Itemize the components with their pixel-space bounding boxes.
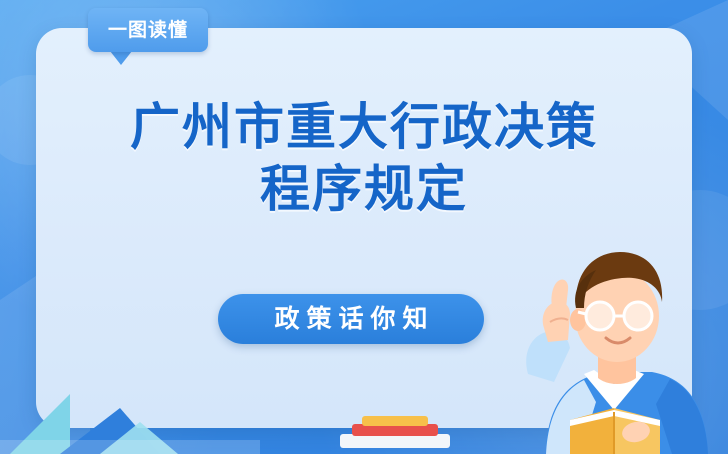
ribbon-label: 一图读懂	[108, 21, 188, 40]
person-illustration	[484, 224, 714, 454]
ribbon-tail-icon	[110, 51, 132, 65]
subtitle-label: 政策话你知	[267, 307, 434, 332]
poster-canvas: 一图读懂 广州市重大行政决策 程序规定 政策话你知	[0, 0, 728, 454]
page-title: 广州市重大行政决策 程序规定	[0, 96, 728, 220]
pointing-hand-icon	[526, 280, 570, 382]
triangle-decoration-icon	[0, 364, 260, 454]
subtitle-badge: 政策话你知	[218, 294, 484, 344]
title-line-1: 广州市重大行政决策	[0, 96, 728, 158]
title-line-2: 程序规定	[0, 158, 728, 220]
book-stack-decoration-icon	[300, 394, 500, 454]
ribbon-badge: 一图读懂	[88, 8, 208, 52]
